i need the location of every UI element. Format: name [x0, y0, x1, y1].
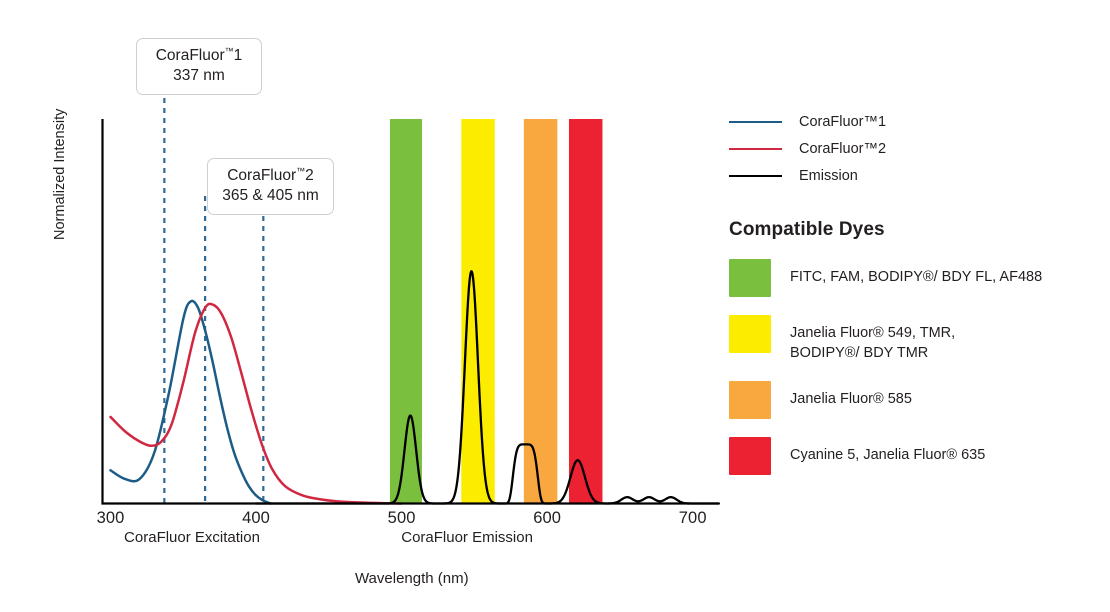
- callout1-line1: CoraFluor™1: [156, 47, 243, 64]
- x-axis-title: Wavelength (nm): [355, 570, 469, 587]
- legend-line-corafluor1: [729, 121, 782, 123]
- dye-label-red: Cyanine 5, Janelia Fluor® 635: [790, 437, 985, 465]
- legend-label-emission: Emission: [799, 168, 858, 184]
- excitation-range-label: CoraFluor Excitation: [124, 529, 260, 546]
- x-tick-700: 700: [663, 509, 723, 528]
- dye-swatch-red: [729, 437, 771, 475]
- dye-row-green: FITC, FAM, BODIPY®/ BDY FL, AF488: [729, 259, 1104, 297]
- curve-corafluor2: [111, 304, 402, 504]
- legend-line-emission: [729, 175, 782, 177]
- fluorescence-spectra-figure: Normalized Intensity 300 400 500 600 700…: [0, 0, 1110, 612]
- dye-label-orange: Janelia Fluor® 585: [790, 381, 912, 409]
- dye-label-yellow: Janelia Fluor® 549, TMR, BODIPY®/ BDY TM…: [790, 315, 955, 363]
- legend-item-emission: Emission: [729, 162, 1104, 189]
- callout2-line1: CoraFluor™2: [227, 167, 314, 184]
- curve-corafluor1: [111, 301, 271, 504]
- corafluor2-callout: CoraFluor™2 365 & 405 nm: [207, 158, 334, 215]
- x-tick-500: 500: [372, 509, 432, 528]
- dye-label-green: FITC, FAM, BODIPY®/ BDY FL, AF488: [790, 259, 1042, 287]
- dye-swatch-yellow: [729, 315, 771, 353]
- x-tick-600: 600: [517, 509, 577, 528]
- dye-swatch-green: [729, 259, 771, 297]
- yellow-band: [461, 119, 494, 504]
- red-band: [569, 119, 602, 504]
- callout1-line2: 337 nm: [149, 66, 249, 86]
- callout2-line2: 365 & 405 nm: [220, 186, 321, 206]
- legend-item-corafluor2: CoraFluor™2: [729, 135, 1104, 162]
- legend-label-corafluor1: CoraFluor™1: [799, 114, 886, 130]
- orange-band: [524, 119, 557, 504]
- dye-row-red: Cyanine 5, Janelia Fluor® 635: [729, 437, 1104, 475]
- compatible-dyes-title: Compatible Dyes: [729, 219, 1104, 241]
- legend-line-corafluor2: [729, 148, 782, 150]
- x-tick-400: 400: [226, 509, 286, 528]
- side-panel: CoraFluor™1 CoraFluor™2 Emission Compati…: [729, 108, 1104, 475]
- dye-swatch-orange: [729, 381, 771, 419]
- legend-item-corafluor1: CoraFluor™1: [729, 108, 1104, 135]
- legend-label-corafluor2: CoraFluor™2: [799, 141, 886, 157]
- dye-row-orange: Janelia Fluor® 585: [729, 381, 1104, 419]
- emission-range-label: CoraFluor Emission: [401, 529, 533, 546]
- x-tick-300: 300: [81, 509, 141, 528]
- corafluor1-callout: CoraFluor™1 337 nm: [136, 38, 262, 95]
- y-axis-title: Normalized Intensity: [52, 50, 68, 240]
- dye-row-yellow: Janelia Fluor® 549, TMR, BODIPY®/ BDY TM…: [729, 315, 1104, 363]
